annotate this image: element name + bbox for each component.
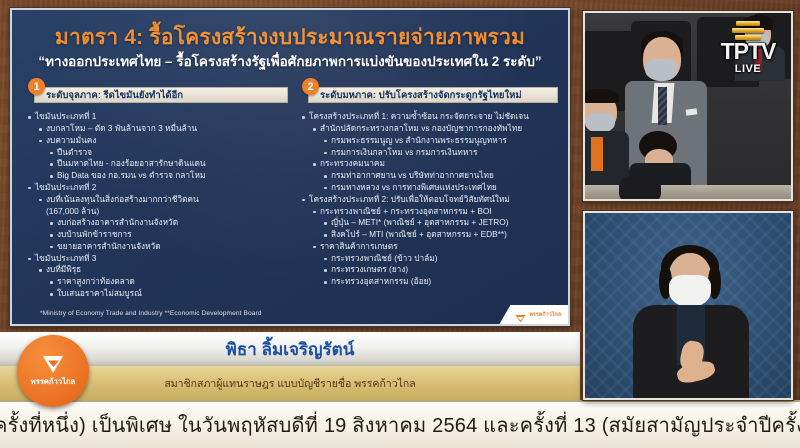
slide-corner-logo: พรรคก้าวไกล	[499, 305, 568, 324]
live-badge: LIVE	[711, 63, 785, 75]
speaker-title: สมาชิกสภาผู้แทนราษฎร แบบบัญชีรายชื่อ พรร…	[164, 375, 415, 392]
list-item: กระทรวงเกษตร (ยาง)	[322, 264, 560, 276]
party-logo-label: พรรคก้าวไกล	[31, 376, 75, 388]
list-item: กรมท่าอากาศยาน vs บริษัทท่าอากาศยานไทย	[322, 170, 560, 182]
list-item: งบกลาโหม – ตัด 3 พันล้านจาก 3 หมื่นล้าน	[37, 123, 290, 135]
news-ticker: ครั้งที่หนึ่ง) เป็นพิเศษ ในวันพฤหัสบดีที…	[0, 400, 800, 448]
list-item: ราคาสูงกว่าท้องตลาด	[48, 276, 290, 288]
column-1-header-bar: ระดับจุลภาค: รีดไขมันยังทำได้อีก	[34, 87, 288, 103]
list-item: กระทรวงพาณิชย์ (ข้าว ปาล์ม)	[322, 253, 560, 265]
list-item: สิงคโปร์ – MTI (พาณิชย์ + อุตสาหกรรม + E…	[322, 229, 560, 241]
presentation-slide: มาตรา 4: รื้อโครงสร้างงบประมาณรายจ่ายภาพ…	[10, 8, 570, 326]
sign-language-interpreter-feed[interactable]	[583, 211, 793, 400]
list-item: ไขมันประเภทที่ 2	[26, 182, 290, 194]
list-item: สำนักปลัดกระทรวงกลาโหม vs กองบัญชาการกอง…	[311, 123, 560, 135]
list-item: งบที่มีพิรุธ	[37, 264, 290, 276]
column-1-header-label: ระดับจุลภาค: รีดไขมันยังทำได้อีก	[46, 88, 183, 103]
list-item: กรมพระธรรมนูญ vs สำนักงานพระธรรมนูญทหาร	[322, 135, 560, 147]
speaker-name: พิธา ลิ้มเจริญรัตน์	[226, 336, 355, 363]
ticker-text: ครั้งที่หนึ่ง) เป็นพิเศษ ในวันพฤหัสบดีที…	[0, 409, 800, 441]
move-forward-party-arrow-icon	[41, 354, 65, 374]
slide-columns: 1 ระดับจุลภาค: รีดไขมันยังทำได้อีก ไขมัน…	[12, 83, 568, 300]
column-1-list: ไขมันประเภทที่ 1งบกลาโหม – ตัด 3 พันล้าน…	[20, 111, 290, 300]
list-item: กรมการเงินกลาโหม vs กรมการเงินทหาร	[322, 147, 560, 159]
interpreter	[585, 213, 791, 398]
list-item: กระทรวงพาณิชย์ + กระทรวงอุตสาหกรรม + BOI	[311, 206, 560, 218]
list-item: ปืนตำรวจ	[48, 147, 290, 159]
column-2-header: 2 ระดับมหภาค: ปรับโครงสร้างจัดกระดูกรัฐไ…	[294, 83, 560, 105]
column-1-header: 1 ระดับจุลภาค: รีดไขมันยังทำได้อีก	[20, 83, 290, 105]
list-item: ไขมันประเภทที่ 1	[26, 111, 290, 123]
list-item: กระทรวงคมนาคม	[311, 158, 560, 170]
slide-column-2: 2 ระดับมหภาค: ปรับโครงสร้างจัดกระดูกรัฐไ…	[290, 83, 560, 300]
list-item: ขยายอาคารสำนักงานจังหวัด	[48, 241, 290, 253]
slide-subtitle: “ทางออกประเทศไทย – รื้อโครงสร้างรัฐเพื่อ…	[12, 54, 568, 70]
list-item: โครงสร้างประเภทที่ 1: ความซ้ำซ้อน กระจัด…	[300, 111, 560, 123]
list-item: ราคาสินค้าการเกษตร	[311, 241, 560, 253]
party-logo: พรรคก้าวไกล	[17, 335, 89, 407]
list-item: งบบ้านพักข้าราชการ	[48, 229, 290, 241]
list-item: งบความมั่นคง	[37, 135, 290, 147]
list-item: งบที่เน้นลงทุนในสิ่งก่อสร้างมากกว่าชีวิต…	[37, 194, 290, 206]
list-item: โครงสร้างประเภทที่ 2: ปรับเพื่อให้ตอบโจท…	[300, 194, 560, 206]
column-2-header-bar: ระดับมหภาค: ปรับโครงสร้างจัดกระดูกรัฐไทย…	[308, 87, 558, 103]
slide-footnote: *Ministry of Economy Trade and Industry …	[40, 310, 262, 317]
tptv-wordmark: TPTV	[711, 41, 785, 63]
list-item: งบก่อสร้างอาคารสำนักงานจังหวัด	[48, 217, 290, 229]
column-2-list: โครงสร้างประเภทที่ 1: ความซ้ำซ้อน กระจัด…	[294, 111, 560, 288]
list-item-continuation: (167,000 ล้าน)	[37, 206, 290, 218]
tptv-logo: TPTV LIVE	[711, 21, 785, 75]
list-item: Big Data ของ กอ.รมน vs ตำรวจ กลาโหม	[48, 170, 290, 182]
list-item: ปืนมหาดไทย - กองร้อยอาสารักษาดินแดน	[48, 158, 290, 170]
slide-title: มาตรา 4: รื้อโครงสร้างงบประมาณรายจ่ายภาพ…	[12, 26, 568, 49]
list-item: กรมทางหลวง vs การทางพิเศษแห่งประเทศไทย	[322, 182, 560, 194]
move-forward-party-arrow-icon	[515, 310, 526, 319]
list-item: ญี่ปุ่น – METI* (พาณิชย์ + อุตสาหกรรม + …	[322, 217, 560, 229]
slide-corner-logo-label: พรรคก้าวไกล	[529, 311, 561, 319]
slide-column-1: 1 ระดับจุลภาค: รีดไขมันยังทำได้อีก ไขมัน…	[20, 83, 290, 300]
list-item: ไขมันประเภทที่ 3	[26, 253, 290, 265]
list-item: กระทรวงอุตสาหกรรม (อ้อย)	[322, 276, 560, 288]
list-item: ใบเสนอราคาไม่สมบูรณ์	[48, 288, 290, 300]
column-2-header-label: ระดับมหภาค: ปรับโครงสร้างจัดกระดูกรัฐไทย…	[320, 88, 522, 103]
parliament-video-feed[interactable]: TPTV LIVE	[583, 11, 793, 201]
